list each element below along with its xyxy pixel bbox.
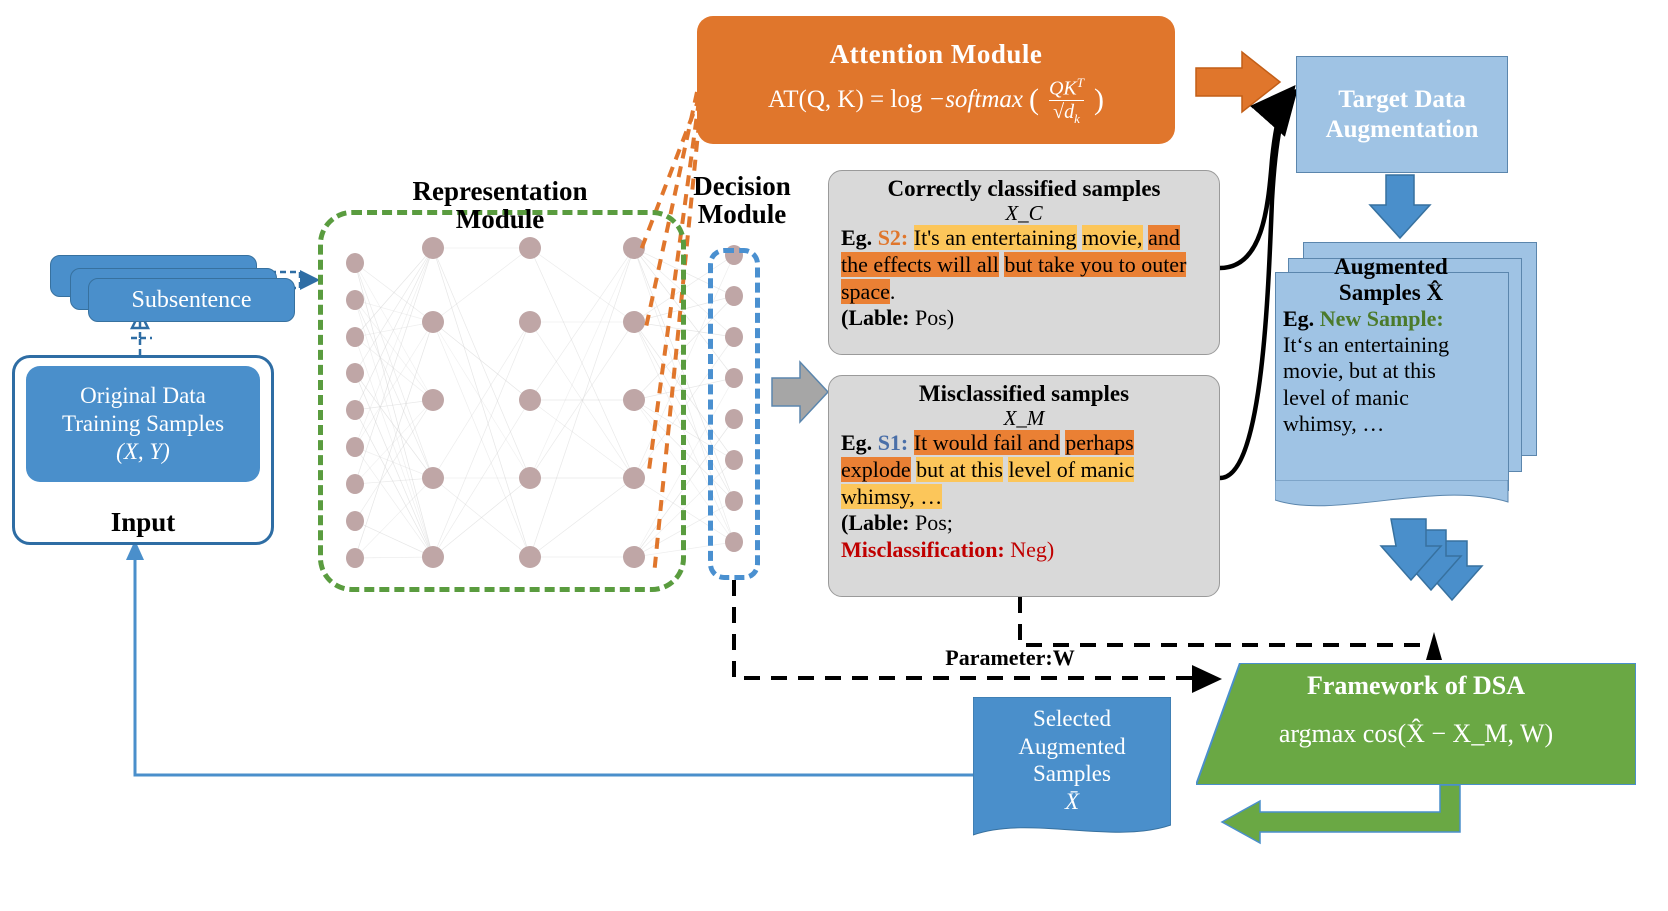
mis-card-body: Eg. S1: It would fail and perhaps explod… bbox=[829, 430, 1219, 564]
augmented-eg: Eg. bbox=[1283, 306, 1314, 331]
dsa-title: Framework of DSA bbox=[1307, 671, 1525, 701]
mis-tag: S1: bbox=[878, 430, 909, 455]
attention-module-title: Attention Module bbox=[830, 39, 1043, 70]
misclassified-card[interactable]: Misclassified samples X_M Eg. S1: It wou… bbox=[828, 375, 1220, 597]
target-data-augmentation-box[interactable]: Target Data Augmentation bbox=[1296, 56, 1508, 173]
tda-to-augmented-arrow bbox=[1370, 175, 1430, 238]
tda-line1: Target Data bbox=[1338, 85, 1466, 115]
mis-card-heading: Misclassified samples bbox=[829, 376, 1219, 407]
decision-to-cards-arrow bbox=[772, 362, 828, 422]
correct-seg-yellow-2: movie, bbox=[1082, 225, 1143, 250]
selected-augmented-samples[interactable]: Selected Augmented Samples X̄ bbox=[973, 697, 1171, 815]
mis-label-value: Pos; bbox=[915, 510, 953, 535]
selected-line4: X̄ bbox=[973, 788, 1171, 816]
mis-misclassification-bold: Misclassification: bbox=[841, 537, 1005, 562]
correct-card-symbol: X_C bbox=[829, 202, 1219, 225]
correct-seg-yellow-1: It's an entertaining bbox=[914, 225, 1077, 250]
correct-tail: . bbox=[890, 279, 896, 304]
original-data-line3: (X, Y) bbox=[116, 438, 170, 466]
subsentence-card-front[interactable]: Subsentence bbox=[88, 278, 295, 322]
attention-denominator: √dk bbox=[1049, 100, 1084, 126]
representation-module-title: Representation Module bbox=[350, 175, 650, 235]
augmented-body-line4: whimsy, … bbox=[1283, 411, 1499, 437]
original-data-box[interactable]: Original Data Training Samples (X, Y) bbox=[26, 366, 260, 482]
augmented-tag: New Sample: bbox=[1320, 306, 1444, 331]
augmented-body-line2: movie, but at this bbox=[1283, 358, 1499, 384]
mis-seg-orange-1: It would fail and bbox=[914, 430, 1060, 455]
correct-label-value: Pos) bbox=[915, 305, 954, 330]
augmented-doc-bottom-curve bbox=[1275, 480, 1509, 514]
correctly-classified-card[interactable]: Correctly classified samples X_C Eg. S2:… bbox=[828, 170, 1220, 355]
correct-tag: S2: bbox=[878, 225, 909, 250]
augmented-body: Eg. New Sample: It‘s an entertaining mov… bbox=[1275, 306, 1507, 438]
dsa-to-selected-arrow bbox=[1222, 785, 1460, 843]
representation-module-boundary bbox=[318, 210, 686, 592]
dashed-mis-to-dsa bbox=[1020, 597, 1434, 645]
representation-title-line2: Module bbox=[456, 205, 545, 233]
augmented-heading: Augmented Samples X̂ bbox=[1275, 254, 1507, 306]
dsa-equation: argmax cos(X̂ − X_M, W) bbox=[1279, 719, 1553, 749]
attention-formula-mid: −softmax bbox=[928, 86, 1023, 114]
representation-title-line1: Representation bbox=[413, 177, 588, 205]
correct-label-bold: (Lable: bbox=[841, 305, 909, 330]
mis-eg: Eg. bbox=[841, 430, 872, 455]
attention-formula: AT(Q, K) = log −softmax ( QKT √dk ) bbox=[768, 76, 1104, 125]
selected-line3: Samples bbox=[973, 760, 1171, 788]
decision-title-line1: Decision bbox=[693, 172, 791, 200]
parameter-label: Parameter:W bbox=[920, 645, 1100, 671]
mis-seg-yellow-1: but at this bbox=[916, 457, 1003, 482]
attention-fraction: QKT √dk bbox=[1045, 76, 1088, 125]
decision-module-boundary bbox=[708, 248, 760, 580]
correct-card-heading: Correctly classified samples bbox=[829, 171, 1219, 202]
mis-label-bold: (Lable: bbox=[841, 510, 909, 535]
subsentence-label: Subsentence bbox=[132, 287, 252, 314]
original-data-line2: Training Samples bbox=[62, 410, 224, 438]
selected-line1: Selected bbox=[973, 705, 1171, 733]
mis-card-symbol: X_M bbox=[829, 407, 1219, 430]
attention-to-tda-arrow bbox=[1196, 52, 1280, 112]
dashed-arrow-head-dsa bbox=[1426, 632, 1442, 660]
augmented-to-dsa-arrows bbox=[1381, 519, 1482, 600]
selected-line2: Augmented bbox=[973, 733, 1171, 761]
augmented-samples-text: Augmented Samples X̂ Eg. New Sample: It‘… bbox=[1275, 254, 1507, 437]
attention-numerator: QKT bbox=[1045, 76, 1088, 100]
augmented-body-line1: It‘s an entertaining bbox=[1283, 332, 1499, 358]
correct-card-body: Eg. S2: It's an entertaining movie, and … bbox=[829, 225, 1219, 332]
tda-line2: Augmentation bbox=[1326, 115, 1479, 145]
augmented-body-line3: level of manic bbox=[1283, 385, 1499, 411]
framework-of-dsa[interactable]: Framework of DSA argmax cos(X̂ − X_M, W) bbox=[1196, 663, 1636, 785]
augmented-head-line1: Augmented bbox=[1275, 254, 1507, 280]
decision-module-title: Decision Module bbox=[672, 170, 812, 230]
correct-eg: Eg. bbox=[841, 225, 872, 250]
input-label: Input bbox=[12, 500, 274, 544]
decision-title-line2: Module bbox=[698, 200, 787, 228]
attention-module[interactable]: Attention Module AT(Q, K) = log −softmax… bbox=[697, 16, 1175, 144]
original-data-line1: Original Data bbox=[80, 382, 206, 410]
mis-misclassification-value: Neg) bbox=[1010, 537, 1054, 562]
diagram-canvas: Original Data Training Samples (X, Y) In… bbox=[0, 0, 1668, 911]
attention-formula-lhs: AT(Q, K) = log bbox=[768, 86, 922, 114]
attention-paren-open: ( bbox=[1029, 83, 1039, 117]
augmented-head-line2: Samples X̂ bbox=[1275, 280, 1507, 306]
attention-paren-close: ) bbox=[1094, 83, 1104, 117]
